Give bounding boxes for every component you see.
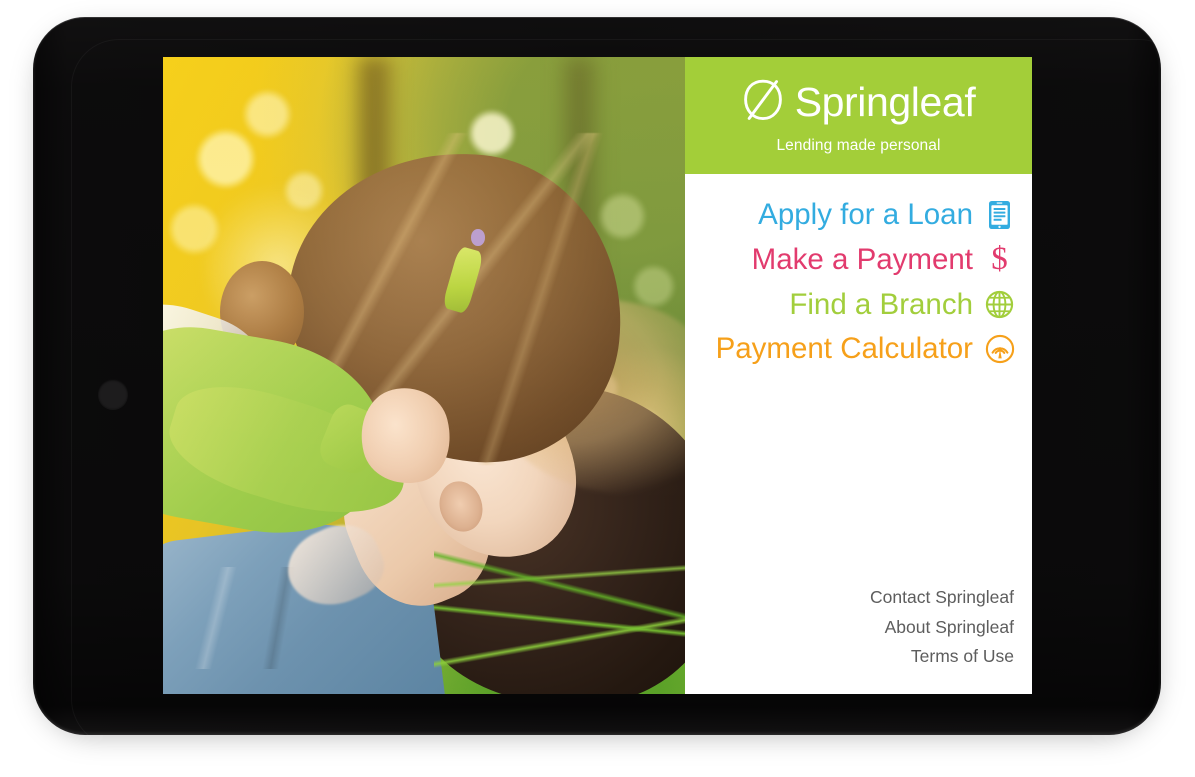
tablet-screen: Springleaf Lending made personal Apply f… xyxy=(163,57,1032,694)
menu-item-find-a-branch[interactable]: Find a Branch xyxy=(685,286,1032,324)
menu-label-payment-calculator: Payment Calculator xyxy=(716,330,973,368)
footer-link-contact-springleaf[interactable]: Contact Springleaf xyxy=(870,585,1014,611)
home-button[interactable] xyxy=(98,379,128,409)
menu-label-find-a-branch: Find a Branch xyxy=(789,286,973,324)
leaf-icon xyxy=(742,77,784,128)
dollar-sign-icon: $ xyxy=(984,243,1015,276)
photo-grass-blades xyxy=(434,541,685,694)
menu-item-apply-for-a-loan[interactable]: Apply for a Loan xyxy=(685,196,1032,234)
footer-link-about-springleaf[interactable]: About Springleaf xyxy=(885,615,1014,641)
menu-item-payment-calculator[interactable]: Payment Calculator xyxy=(685,330,1032,368)
menu-item-make-a-payment[interactable]: Make a Payment $ xyxy=(685,241,1032,279)
photo-child-hair-bead xyxy=(471,229,485,246)
menu-label-make-a-payment: Make a Payment xyxy=(752,241,973,279)
brand-header: Springleaf Lending made personal xyxy=(685,57,1032,174)
main-menu: Apply for a Loan xyxy=(685,174,1032,368)
hero-photo xyxy=(163,57,685,694)
brand-lockup: Springleaf xyxy=(742,77,976,128)
signal-broadcast-icon xyxy=(984,333,1015,366)
menu-pane: Springleaf Lending made personal Apply f… xyxy=(685,57,1032,694)
dollar-glyph: $ xyxy=(991,243,1008,276)
screenshot-stage: Springleaf Lending made personal Apply f… xyxy=(0,0,1195,777)
globe-icon xyxy=(984,288,1015,321)
brand-tagline: Lending made personal xyxy=(776,137,940,155)
footer-links: Contact Springleaf About Springleaf Term… xyxy=(685,585,1032,694)
brand-name: Springleaf xyxy=(795,82,976,123)
footer-link-terms-of-use[interactable]: Terms of Use xyxy=(911,644,1014,670)
menu-label-apply-for-a-loan: Apply for a Loan xyxy=(758,196,973,234)
tablet-document-icon xyxy=(984,198,1015,231)
